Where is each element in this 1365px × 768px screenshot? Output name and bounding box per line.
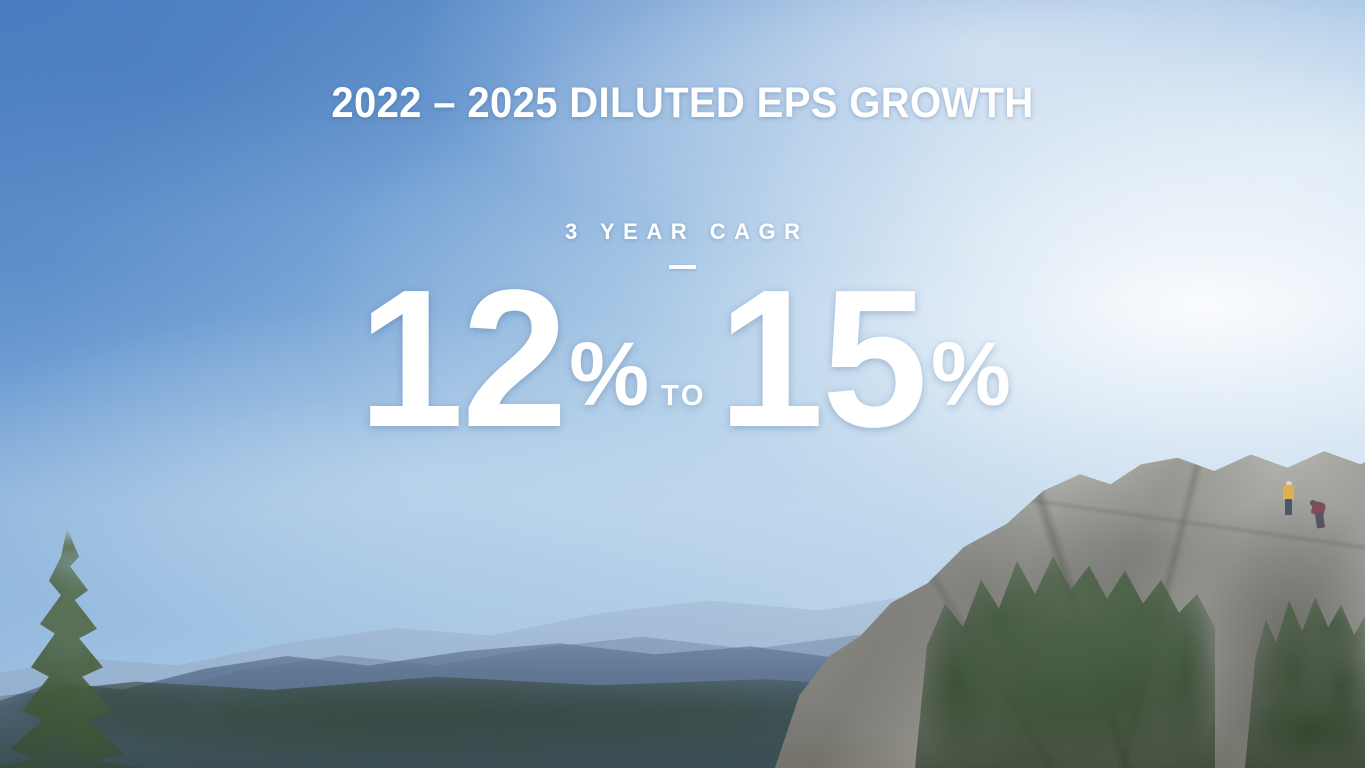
slide-content: 2022 – 2025 DILUTED EPS GROWTH 3 YEAR CA… — [0, 0, 1365, 768]
metric-range-connector: TO — [661, 386, 706, 407]
metric-eyebrow-label: 3 YEAR CAGR — [0, 221, 1365, 243]
divider-rule — [669, 265, 696, 269]
metric-low-value: 12 — [358, 286, 566, 431]
metric-high-value: 15 — [718, 286, 926, 431]
divider-container — [0, 265, 1365, 269]
presentation-slide: 2022 – 2025 DILUTED EPS GROWTH 3 YEAR CA… — [0, 0, 1365, 768]
slide-headline: 2022 – 2025 DILUTED EPS GROWTH — [48, 82, 1317, 125]
metric-range: 12 % TO 15 % — [0, 286, 1365, 431]
metric-high-unit: % — [931, 342, 1010, 409]
metric-low-unit: % — [569, 342, 648, 409]
